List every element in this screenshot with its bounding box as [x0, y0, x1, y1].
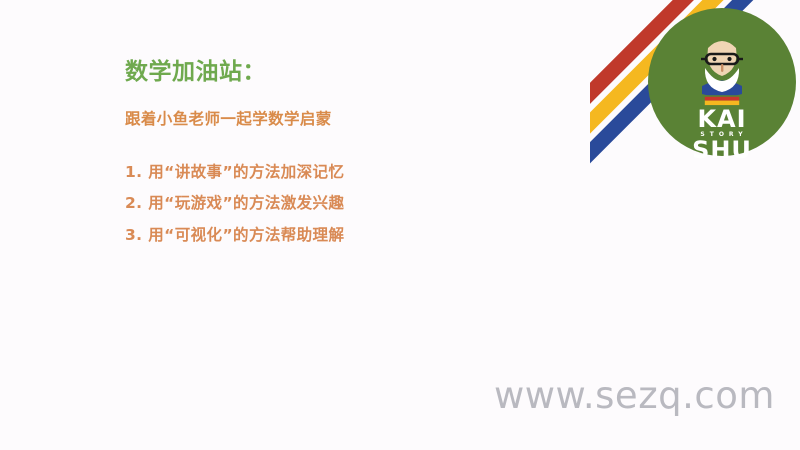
- slide-heading: 数学加油站：: [125, 58, 545, 87]
- brand-wordmark-shu: SHU: [648, 139, 796, 162]
- brand-wordmark-kai: KAI: [648, 108, 796, 131]
- brand-badge: KAI STORY SHU: [648, 8, 796, 156]
- site-watermark: www.sezq.com: [494, 374, 775, 417]
- list-item: 3. 用“可视化”的方法帮助理解: [125, 228, 545, 244]
- list-item: 1. 用“讲故事”的方法加深记忆: [125, 165, 545, 181]
- slide-canvas: KAI STORY SHU 数学加油站： 跟着小鱼老师一起学数学启蒙 1. 用“…: [0, 0, 800, 450]
- text-content-block: 数学加油站： 跟着小鱼老师一起学数学启蒙 1. 用“讲故事”的方法加深记忆 2.…: [125, 58, 545, 243]
- mascot-icon: [701, 41, 743, 97]
- slide-subheading: 跟着小鱼老师一起学数学启蒙: [125, 109, 545, 129]
- method-list: 1. 用“讲故事”的方法加深记忆 2. 用“玩游戏”的方法激发兴趣 3. 用“可…: [125, 165, 545, 244]
- list-item: 2. 用“玩游戏”的方法激发兴趣: [125, 196, 545, 212]
